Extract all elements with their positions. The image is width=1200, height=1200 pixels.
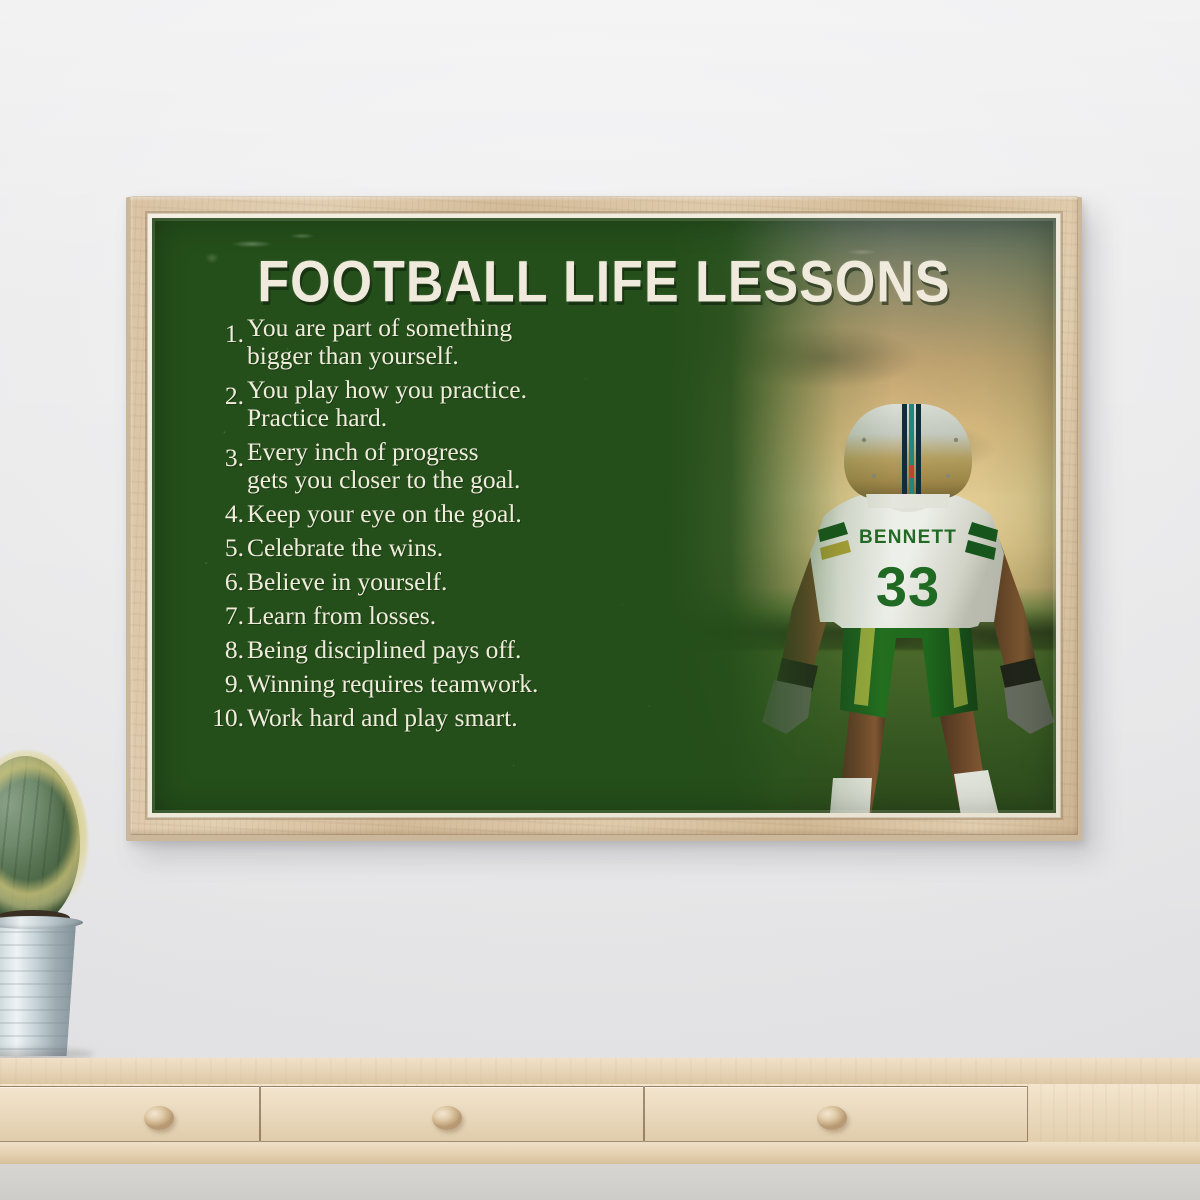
room-scene: BENNETT 33 FOOTBALL LIFE LESSONS 1. You … — [0, 0, 1200, 1200]
table-rail — [0, 1142, 1200, 1164]
poster-inner-shadow — [152, 218, 1056, 813]
cactus-spines — [0, 750, 88, 932]
drawer-knob[interactable] — [817, 1106, 847, 1130]
drawer-knob[interactable] — [432, 1106, 462, 1130]
table-top-grain — [0, 1058, 1200, 1084]
pot-ridges — [0, 920, 80, 1056]
drawer-knob[interactable] — [144, 1106, 174, 1130]
poster-artwork[interactable]: BENNETT 33 FOOTBALL LIFE LESSONS 1. You … — [152, 218, 1056, 813]
drawer[interactable] — [0, 1086, 260, 1142]
picture-frame[interactable]: BENNETT 33 FOOTBALL LIFE LESSONS 1. You … — [130, 196, 1078, 835]
potted-cactus — [0, 748, 104, 1056]
floor — [0, 1164, 1200, 1200]
